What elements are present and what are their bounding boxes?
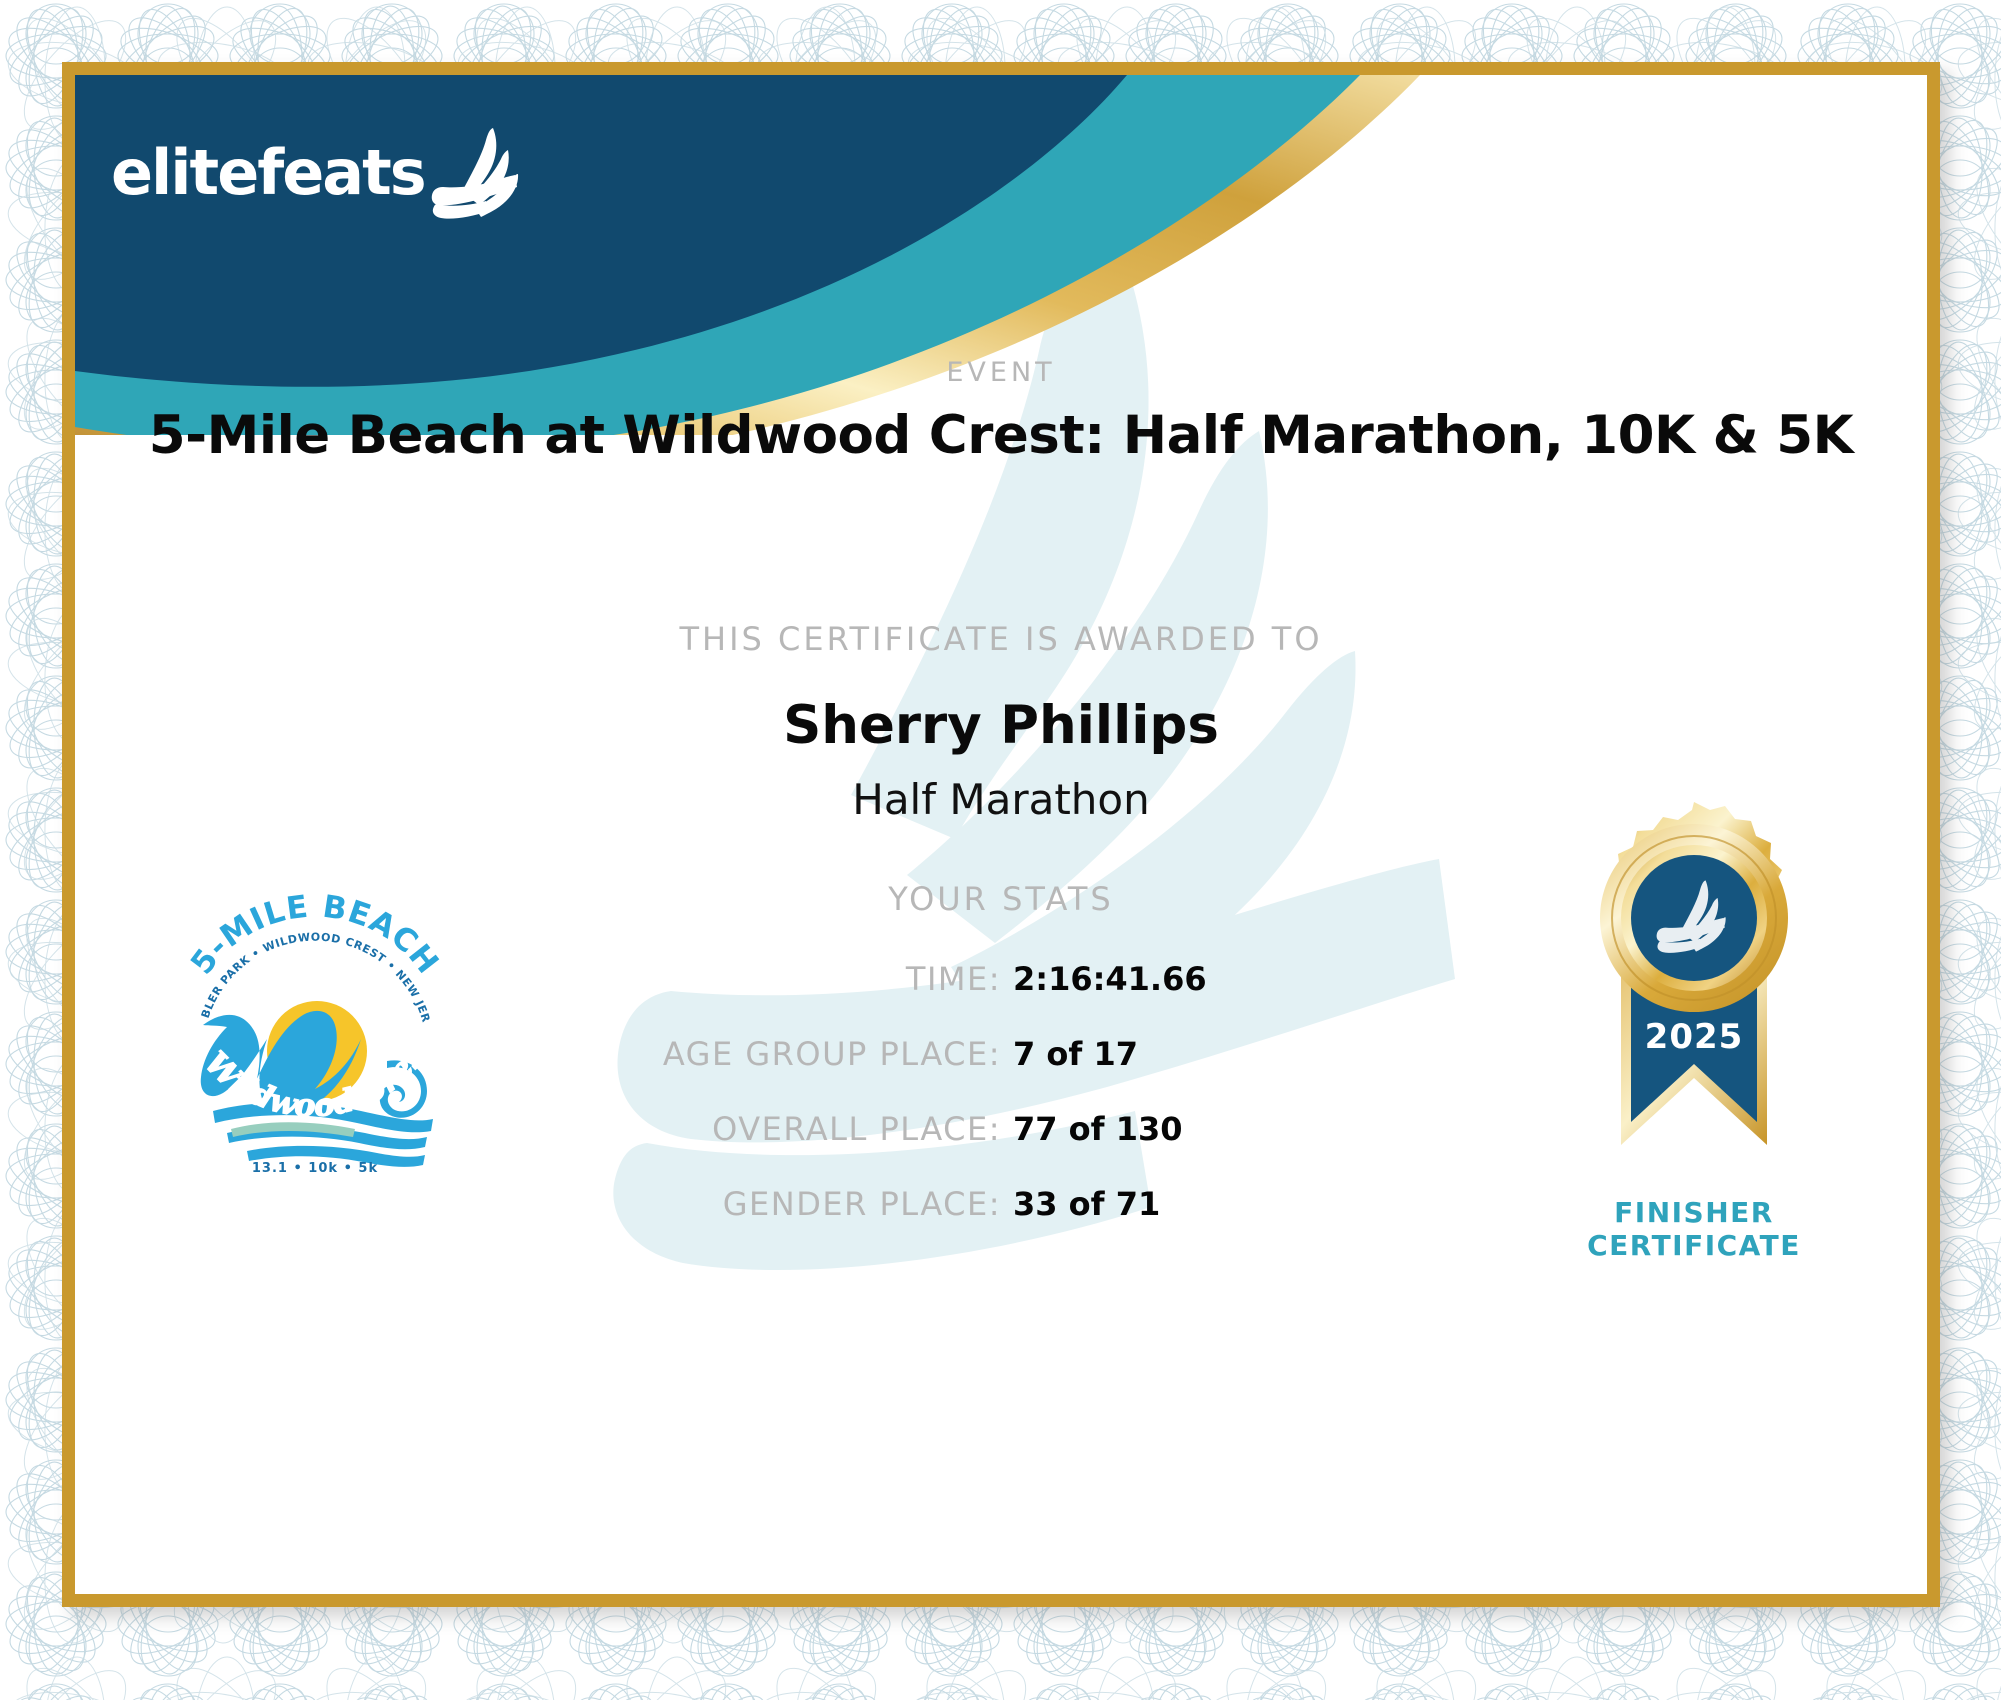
stat-value-gender-place: 33 of 71 [1001,1185,1541,1223]
race-event-logo: 5-MILE BEACH RAMBLER PARK • WILDWOOD CRE… [165,875,465,1175]
stat-value-overall-place: 77 of 130 [1001,1110,1541,1148]
stat-label-gender-place: GENDER PLACE: [461,1185,1001,1223]
finisher-certificate-caption: FINISHER CERTIFICATE [1549,1196,1839,1262]
stat-label-time: TIME: [461,960,1001,998]
awarded-to-label: THIS CERTIFICATE IS AWARDED TO [75,620,1927,658]
certificate-card: elitefeats EVENT 5-Mile Beach at Wildwoo… [62,62,1940,1607]
recipient-name: Sherry Phillips [75,695,1927,756]
stat-value-age-group-place: 7 of 17 [1001,1035,1541,1073]
event-title: 5-Mile Beach at Wildwood Crest: Half Mar… [75,405,1927,466]
finisher-line-1: FINISHER [1549,1196,1839,1229]
brand-wordmark: elitefeats [111,142,425,204]
badge-year: 2025 [1645,1017,1744,1057]
event-label: EVENT [75,357,1927,388]
brand-logo: elitefeats [111,125,521,221]
finisher-medal-graphic: 2025 [1549,800,1839,1190]
finisher-line-2: CERTIFICATE [1549,1229,1839,1262]
stat-label-age-group-place: AGE GROUP PLACE: [461,1035,1001,1073]
winged-foot-icon [431,125,521,221]
stat-label-overall-place: OVERALL PLACE: [461,1110,1001,1148]
finisher-badge: 2025 FINISHER CERTIFICATE [1549,800,1839,1270]
stat-value-time: 2:16:41.66 [1001,960,1541,998]
race-logo-distances: 13.1 • 10k • 5k [252,1161,378,1175]
